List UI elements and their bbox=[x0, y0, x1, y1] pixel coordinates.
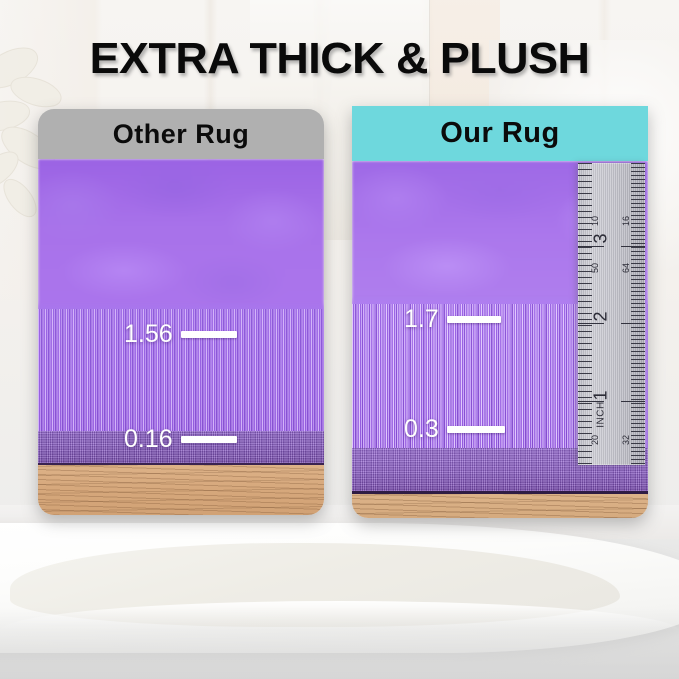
other-rug-wood-floor bbox=[38, 465, 324, 515]
ruler-left-scale-50: 50 bbox=[590, 263, 600, 273]
ruler-inch-mark-2: 2 bbox=[591, 311, 612, 321]
ruler-left-scale-10: 10 bbox=[590, 216, 600, 226]
measurement-other-pile-height: 1.56 bbox=[124, 320, 237, 349]
measurement-bar-icon bbox=[447, 316, 501, 323]
measurement-value: 0.16 bbox=[124, 425, 173, 454]
comparison-card-other-rug: Other Rug bbox=[38, 109, 324, 515]
foam-underlay bbox=[0, 505, 679, 679]
ruler-major-tick bbox=[621, 401, 645, 402]
ruler-unit-label: INCH bbox=[596, 401, 607, 427]
measurement-bar-icon bbox=[181, 331, 237, 338]
measurement-our-base-height: 0.3 bbox=[404, 415, 505, 444]
measurement-value: 1.56 bbox=[124, 320, 173, 349]
ruler-inch-mark-1: 1 bbox=[591, 390, 612, 400]
page-title: EXTRA THICK & PLUSH bbox=[0, 34, 679, 84]
ruler-major-tick bbox=[578, 323, 604, 324]
measuring-ruler: 3 2 1 INCH 10 50 20 16 64 32 bbox=[578, 163, 645, 465]
measurement-our-pile-height: 1.7 bbox=[404, 305, 501, 334]
ruler-inch-mark-3: 3 bbox=[591, 233, 612, 243]
other-rug-pile-top bbox=[38, 159, 324, 314]
card-header-our-rug: Our Rug bbox=[352, 106, 648, 161]
ruler-right-scale-16: 16 bbox=[621, 216, 631, 226]
ruler-ticks-right bbox=[631, 163, 645, 465]
measurement-bar-icon bbox=[447, 426, 505, 433]
ruler-right-scale-64: 64 bbox=[621, 263, 631, 273]
measurement-other-base-height: 0.16 bbox=[124, 425, 237, 454]
our-rug-wood-floor bbox=[352, 494, 648, 518]
ruler-major-tick bbox=[578, 246, 604, 247]
ruler-major-tick bbox=[621, 246, 645, 247]
measurement-value: 0.3 bbox=[404, 415, 439, 444]
ruler-major-tick bbox=[621, 323, 645, 324]
foam-bottom-shadow bbox=[0, 607, 679, 679]
ruler-left-scale-20: 20 bbox=[590, 435, 600, 445]
measurement-value: 1.7 bbox=[404, 305, 439, 334]
ruler-right-scale-32: 32 bbox=[621, 435, 631, 445]
card-header-other-rug: Other Rug bbox=[38, 109, 324, 159]
measurement-bar-icon bbox=[181, 436, 237, 443]
